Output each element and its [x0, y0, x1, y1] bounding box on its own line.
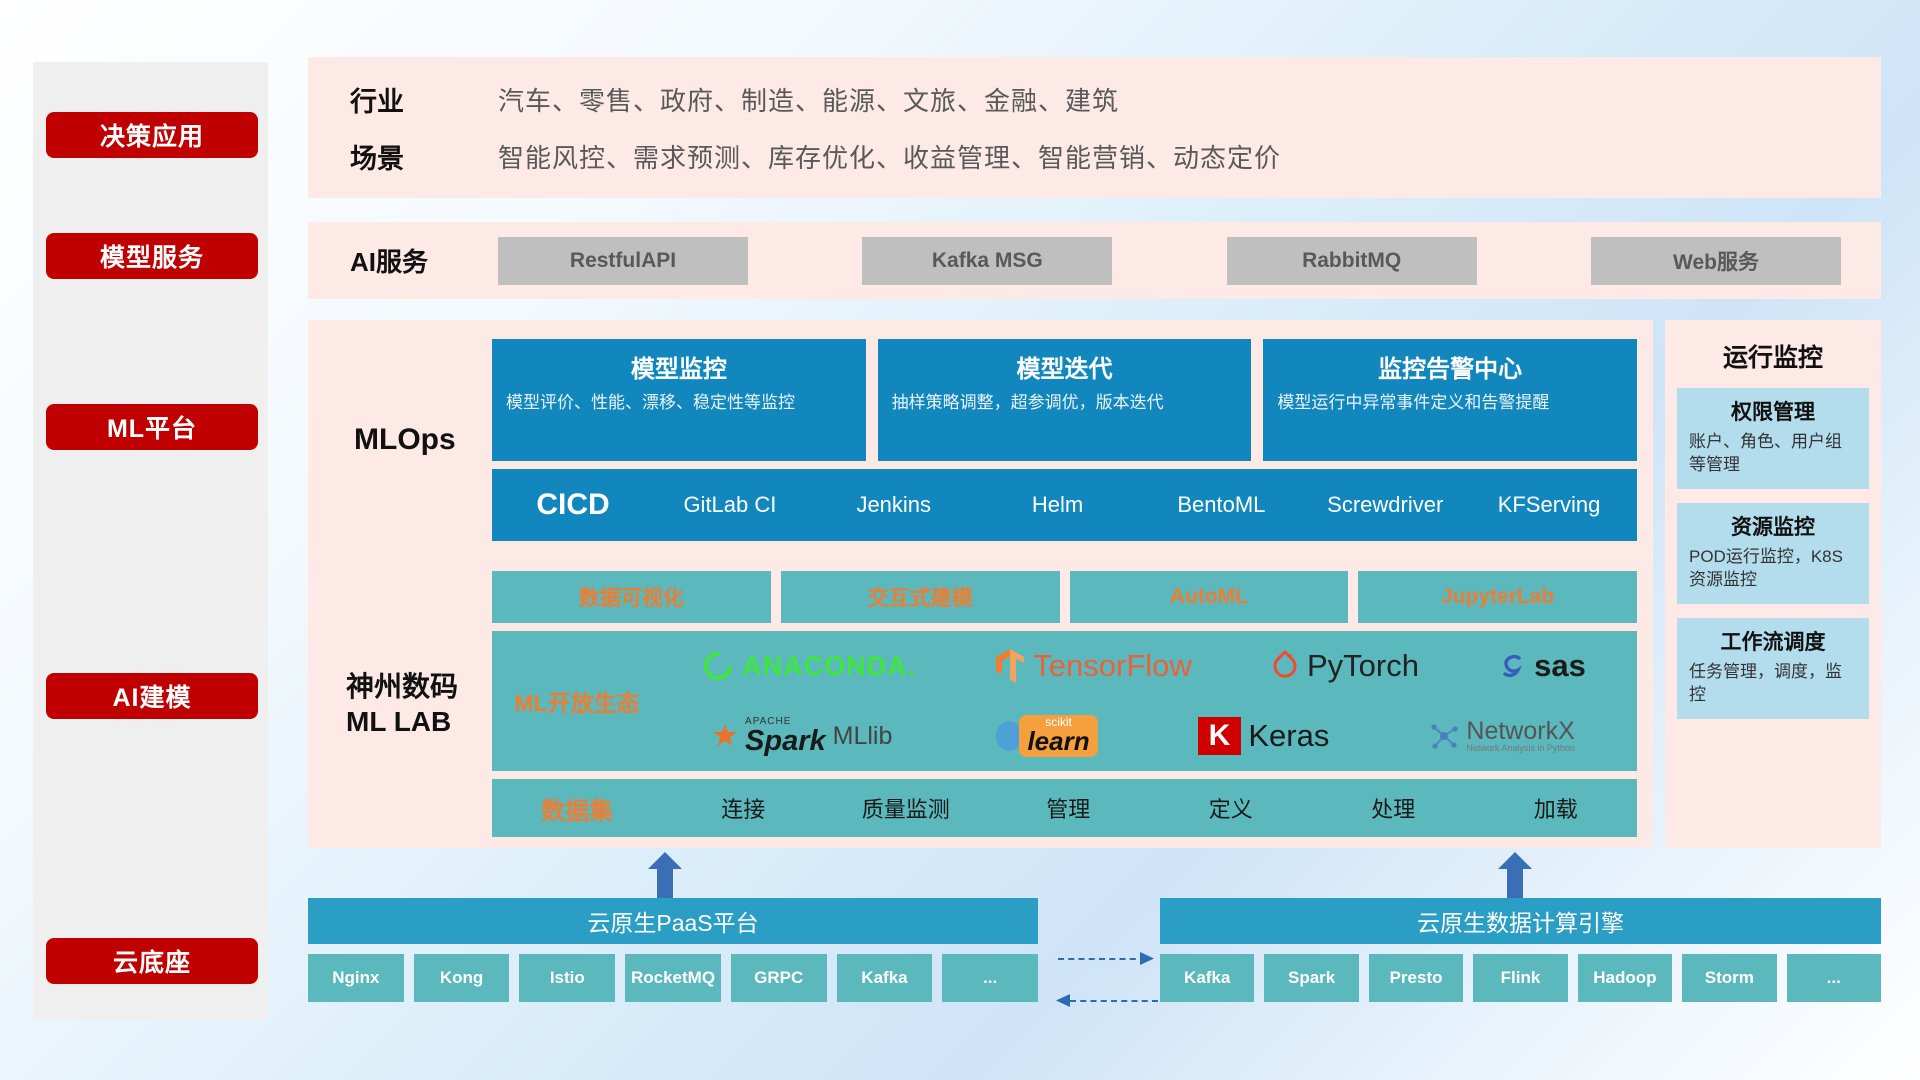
- mlops-card-list: 模型监控 模型评价、性能、漂移、稳定性等监控 模型迭代 抽样策略调整，超参调优，…: [492, 339, 1637, 461]
- paas-chip-list: Nginx Kong Istio RocketMQ GRPC Kafka ...: [308, 954, 1038, 1002]
- tensorflow-logo: TensorFlow: [994, 647, 1192, 685]
- connector-dashed-right: [1058, 958, 1146, 960]
- pytorch-wordmark: PyTorch: [1307, 648, 1419, 684]
- engine-chip-list: Kafka Spark Presto Flink Hadoop Storm ..…: [1160, 954, 1881, 1002]
- cicd-item-screwdriver[interactable]: Screwdriver: [1303, 493, 1467, 517]
- engine-chip-storm[interactable]: Storm: [1682, 954, 1776, 1002]
- scenario-row: 场景 智能风控、需求预测、库存优化、收益管理、智能营销、动态定价: [350, 137, 1881, 176]
- paas-chip-grpc[interactable]: GRPC: [731, 954, 827, 1002]
- scenario-values: 智能风控、需求预测、库存优化、收益管理、智能营销、动态定价: [498, 138, 1281, 175]
- dataset-label: 数据集: [492, 791, 662, 826]
- arrow-up-engine-icon: [1498, 852, 1532, 898]
- ai-service-chip[interactable]: Kafka MSG: [862, 237, 1112, 285]
- tensorflow-wordmark: TensorFlow: [1033, 648, 1192, 684]
- cicd-item-gitlab[interactable]: GitLab CI: [648, 493, 812, 517]
- cicd-row: CICD GitLab CI Jenkins Helm BentoML Scre…: [492, 469, 1637, 541]
- dataset-item-quality[interactable]: 质量监测: [825, 792, 988, 824]
- ai-service-chip[interactable]: Web服务: [1591, 237, 1841, 285]
- card-title: 模型监控: [506, 349, 852, 384]
- card-title: 工作流调度: [1689, 626, 1857, 656]
- stage-pill-decision-apps[interactable]: 决策应用: [46, 112, 258, 158]
- engine-chip-hadoop[interactable]: Hadoop: [1578, 954, 1672, 1002]
- dataset-row: 数据集 连接 质量监测 管理 定义 处理 加载: [492, 779, 1637, 837]
- cicd-title: CICD: [498, 488, 648, 522]
- mllib-wordmark: MLlib: [833, 722, 893, 751]
- dataset-item-process[interactable]: 处理: [1312, 792, 1475, 824]
- paas-chip-rocketmq[interactable]: RocketMQ: [625, 954, 721, 1002]
- card-title: 权限管理: [1689, 396, 1857, 426]
- paas-chip-kong[interactable]: Kong: [414, 954, 510, 1002]
- modeling-tab-list: 数据可视化 交互式建模 AutoML JupyterLab: [492, 571, 1637, 623]
- engine-chip-presto[interactable]: Presto: [1369, 954, 1463, 1002]
- sas-logo: sas: [1497, 648, 1586, 684]
- scenario-label: 场景: [350, 137, 498, 176]
- anaconda-logo: ANACONDA.: [701, 649, 916, 683]
- networkx-wordmark: NetworkX: [1466, 718, 1575, 744]
- stage-label: 模型服务: [100, 238, 204, 274]
- cicd-item-jenkins[interactable]: Jenkins: [812, 493, 976, 517]
- cicd-item-helm[interactable]: Helm: [976, 493, 1140, 517]
- card-desc: 任务管理，调度，监控: [1689, 661, 1857, 707]
- ai-service-band: AI服务 RestfulAPI Kafka MSG RabbitMQ Web服务: [308, 222, 1881, 299]
- tensorflow-icon: [994, 647, 1026, 685]
- stage-label: 云底座: [113, 943, 191, 979]
- card-desc: 抽样策略调整，超参调优，版本迭代: [892, 392, 1238, 415]
- engine-chip-flink[interactable]: Flink: [1473, 954, 1567, 1002]
- architecture-diagram: 决策应用 模型服务 ML平台 AI建模 云底座 行业 汽车、零售、政府、制造、能…: [0, 0, 1920, 1080]
- card-desc: POD运行监控，K8S资源监控: [1689, 546, 1857, 592]
- paas-chip-kafka[interactable]: Kafka: [837, 954, 933, 1002]
- sas-icon: [1497, 651, 1527, 681]
- paas-chip-more[interactable]: ...: [942, 954, 1038, 1002]
- engine-chip-spark[interactable]: Spark: [1264, 954, 1358, 1002]
- stage-label: 决策应用: [100, 117, 204, 153]
- tab-interactive-modeling[interactable]: 交互式建模: [781, 571, 1060, 623]
- mlops-card-model-iteration[interactable]: 模型迭代 抽样策略调整，超参调优，版本迭代: [878, 339, 1252, 461]
- runtime-monitor-title: 运行监控: [1665, 320, 1881, 374]
- ai-service-label: AI服务: [350, 242, 498, 279]
- mlops-band: MLOps 模型监控 模型评价、性能、漂移、稳定性等监控 模型迭代 抽样策略调整…: [308, 320, 1653, 560]
- stage-pill-ai-modeling[interactable]: AI建模: [46, 673, 258, 719]
- scikit-learn-logo: scikit learn: [992, 715, 1097, 757]
- spark-mllib-logo: APACHE Spark MLlib: [712, 717, 892, 756]
- card-title: 监控告警中心: [1277, 349, 1623, 384]
- industry-row: 行业 汽车、零售、政府、制造、能源、文旅、金融、建筑: [350, 80, 1881, 119]
- card-desc: 模型评价、性能、漂移、稳定性等监控: [506, 392, 852, 415]
- card-title: 模型迭代: [892, 349, 1238, 384]
- mlops-card-model-monitoring[interactable]: 模型监控 模型评价、性能、漂移、稳定性等监控: [492, 339, 866, 461]
- paas-platform-bar[interactable]: 云原生PaaS平台: [308, 898, 1038, 944]
- sas-wordmark: sas: [1534, 648, 1586, 684]
- card-title: 资源监控: [1689, 511, 1857, 541]
- cicd-item-kfserving[interactable]: KFServing: [1467, 493, 1631, 517]
- spark-wordmark: Spark: [745, 727, 826, 756]
- learn-wordmark: learn: [1027, 728, 1089, 754]
- stage-pill-model-service[interactable]: 模型服务: [46, 233, 258, 279]
- tab-automl[interactable]: AutoML: [1070, 571, 1349, 623]
- dataset-item-manage[interactable]: 管理: [987, 792, 1150, 824]
- paas-label: 云原生PaaS平台: [587, 904, 758, 938]
- pytorch-icon: [1270, 649, 1300, 683]
- connector-arrow-right-icon: [1140, 951, 1154, 967]
- dataset-item-connect[interactable]: 连接: [662, 792, 825, 824]
- stage-pill-ml-platform[interactable]: ML平台: [46, 404, 258, 450]
- networkx-tagline: Network Analysis in Python: [1466, 744, 1575, 753]
- runtime-monitor-panel: 运行监控 权限管理 账户、角色、用户组等管理 资源监控 POD运行监控，K8S资…: [1665, 320, 1881, 848]
- card-desc: 账户、角色、用户组等管理: [1689, 431, 1857, 477]
- ai-service-chip[interactable]: RestfulAPI: [498, 237, 748, 285]
- card-desc: 模型运行中异常事件定义和告警提醒: [1277, 392, 1623, 415]
- ai-service-chip[interactable]: RabbitMQ: [1227, 237, 1477, 285]
- networkx-logo: NetworkX Network Analysis in Python: [1429, 718, 1575, 754]
- anaconda-icon: [701, 649, 735, 683]
- ai-service-chip-list: RestfulAPI Kafka MSG RabbitMQ Web服务: [498, 237, 1881, 285]
- stage-label: ML平台: [107, 409, 197, 445]
- engine-chip-kafka[interactable]: Kafka: [1160, 954, 1254, 1002]
- paas-chip-nginx[interactable]: Nginx: [308, 954, 404, 1002]
- mlops-card-alert-center[interactable]: 监控告警中心 模型运行中异常事件定义和告警提醒: [1263, 339, 1637, 461]
- engine-chip-more[interactable]: ...: [1787, 954, 1881, 1002]
- ml-ecosystem-label: ML开放生态: [492, 684, 662, 718]
- pytorch-logo: PyTorch: [1270, 648, 1419, 684]
- dataset-item-load[interactable]: 加载: [1475, 792, 1638, 824]
- data-compute-engine-bar[interactable]: 云原生数据计算引擎: [1160, 898, 1881, 944]
- keras-mark: K: [1198, 717, 1242, 755]
- ml-ecosystem-panel: ML开放生态 ANACONDA.: [492, 631, 1637, 771]
- tab-jupyterlab[interactable]: JupyterLab: [1358, 571, 1637, 623]
- engine-label: 云原生数据计算引擎: [1417, 904, 1624, 938]
- stage-pill-cloud-base[interactable]: 云底座: [46, 938, 258, 984]
- networkx-graph-icon: [1429, 721, 1459, 751]
- keras-wordmark: Keras: [1248, 718, 1329, 754]
- dataset-item-define[interactable]: 定义: [1150, 792, 1313, 824]
- cicd-item-bentoml[interactable]: BentoML: [1139, 493, 1303, 517]
- monitor-card-permission[interactable]: 权限管理 账户、角色、用户组等管理: [1677, 388, 1869, 489]
- ml-lab-label-line2: ML LAB: [346, 704, 492, 739]
- connector-dashed-left: [1070, 1000, 1158, 1002]
- tab-data-visualization[interactable]: 数据可视化: [492, 571, 771, 623]
- spark-star-icon: [712, 723, 738, 749]
- anaconda-wordmark: ANACONDA.: [742, 651, 916, 682]
- stage-label: AI建模: [112, 678, 191, 714]
- stage-rail: [33, 62, 268, 1020]
- industry-values: 汽车、零售、政府、制造、能源、文旅、金融、建筑: [498, 81, 1119, 118]
- modeling-band: 神州数码 ML LAB 数据可视化 交互式建模 AutoML JupyterLa…: [308, 560, 1653, 848]
- monitor-card-resource[interactable]: 资源监控 POD运行监控，K8S资源监控: [1677, 503, 1869, 604]
- paas-chip-istio[interactable]: Istio: [519, 954, 615, 1002]
- ml-lab-label: 神州数码 ML LAB: [332, 669, 492, 739]
- mlops-label: MLOps: [332, 423, 492, 457]
- monitor-card-workflow[interactable]: 工作流调度 任务管理，调度，监控: [1677, 618, 1869, 719]
- ml-lab-label-line1: 神州数码: [346, 669, 492, 704]
- arrow-up-paas-icon: [648, 852, 682, 898]
- industry-label: 行业: [350, 80, 498, 119]
- connector-arrow-left-icon: [1056, 993, 1070, 1009]
- keras-logo: K Keras: [1198, 717, 1330, 755]
- applications-band: 行业 汽车、零售、政府、制造、能源、文旅、金融、建筑 场景 智能风控、需求预测、…: [308, 57, 1881, 198]
